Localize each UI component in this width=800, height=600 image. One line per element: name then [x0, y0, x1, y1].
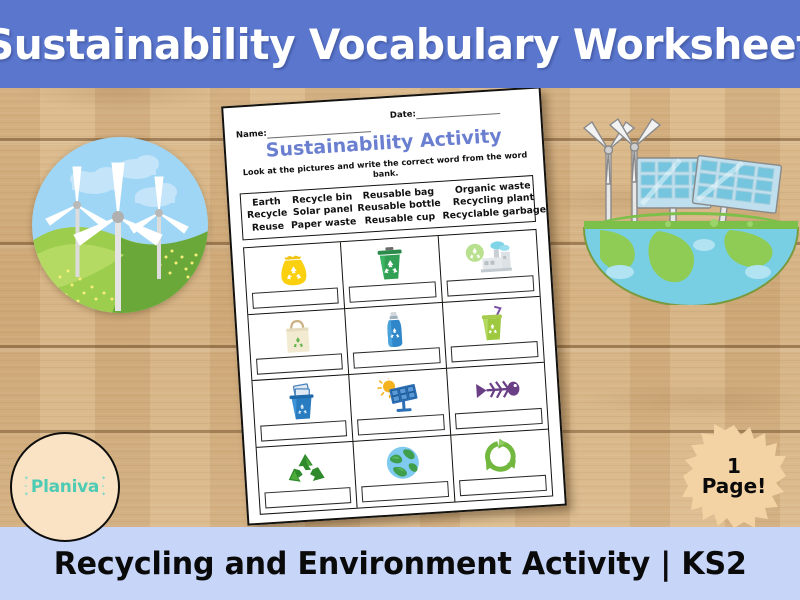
word-bank-column: Recycle bin Solar panel Paper waste	[288, 191, 357, 232]
grid-cell	[257, 441, 358, 513]
reusable-bag-icon	[254, 313, 343, 359]
date-input-line[interactable]	[416, 105, 500, 119]
solar-panel-icon	[355, 373, 444, 419]
recycling-plant-icon	[444, 235, 534, 281]
grid-cell	[350, 369, 451, 441]
word-bank-column: Reusable bag Reusable bottle Reusable cu…	[355, 186, 443, 228]
reusable-cup-icon	[448, 301, 538, 347]
earth-with-solar-panels-and-turbines-illustration	[580, 100, 800, 305]
grid-cell	[443, 297, 544, 369]
sparkle-right-icon: ✦∘✦	[101, 476, 106, 498]
word-bank-column: Earth Recycle Reuse	[244, 195, 291, 234]
reusable-bottle-icon	[351, 307, 440, 353]
word-bank-column: Organic waste Recycling plant Recyclable…	[441, 179, 547, 222]
date-field[interactable]: Date:	[390, 104, 500, 121]
page-subtitle: Recycling and Environment Activity | KS2	[54, 546, 747, 582]
top-banner: Sustainability Vocabulary Worksheet	[0, 0, 800, 88]
earth-globe-icon	[359, 440, 448, 487]
grid-cell	[341, 236, 442, 308]
badge-count: 1	[702, 456, 767, 476]
name-label: Name:	[236, 129, 267, 141]
picture-grid	[243, 229, 553, 515]
recycle-symbol-icon	[262, 446, 351, 493]
date-label: Date:	[390, 109, 417, 121]
recyclable-garbage-bag-icon	[249, 247, 338, 293]
grid-cell	[451, 429, 552, 501]
grid-cell	[248, 309, 349, 381]
grid-cell	[438, 230, 539, 302]
grid-cell	[244, 243, 345, 315]
word-bank-word: Earth	[252, 196, 281, 209]
brand-logo-badge[interactable]: ✦∘✦ Planiva ✦∘✦	[10, 432, 120, 542]
wind-turbines-landscape-illustration	[32, 137, 208, 313]
grid-cell	[345, 303, 446, 375]
word-bank: Earth Recycle Reuse Recycle bin Solar pa…	[240, 175, 536, 241]
page-count-badge: 1 Page!	[682, 424, 786, 528]
badge-label: Page!	[702, 476, 767, 496]
paper-waste-bin-icon	[258, 379, 347, 425]
grid-cell	[354, 435, 455, 507]
windmill-svg	[32, 137, 208, 313]
badge-text: 1 Page!	[702, 456, 767, 497]
grid-cell	[252, 375, 353, 447]
earth-solar-svg	[580, 100, 800, 305]
bottom-banner: Recycling and Environment Activity | KS2	[0, 527, 800, 600]
word-bank-word: Reuse	[252, 221, 285, 234]
grid-cell	[447, 363, 548, 435]
page-title: Sustainability Vocabulary Worksheet	[0, 20, 800, 69]
reuse-arrows-icon	[456, 433, 546, 480]
sparkle-left-icon: ✦∘✦	[24, 476, 29, 498]
recycle-bin-icon	[346, 241, 435, 287]
logo-text: Planiva	[31, 477, 99, 497]
worksheet-paper: Name: Date: Sustainability Activity Look…	[221, 86, 567, 525]
logo-inner: ✦∘✦ Planiva ✦∘✦	[24, 476, 106, 498]
screenshot-root: Name: Date: Sustainability Activity Look…	[0, 0, 800, 600]
organic-waste-fishbone-icon	[452, 367, 542, 413]
